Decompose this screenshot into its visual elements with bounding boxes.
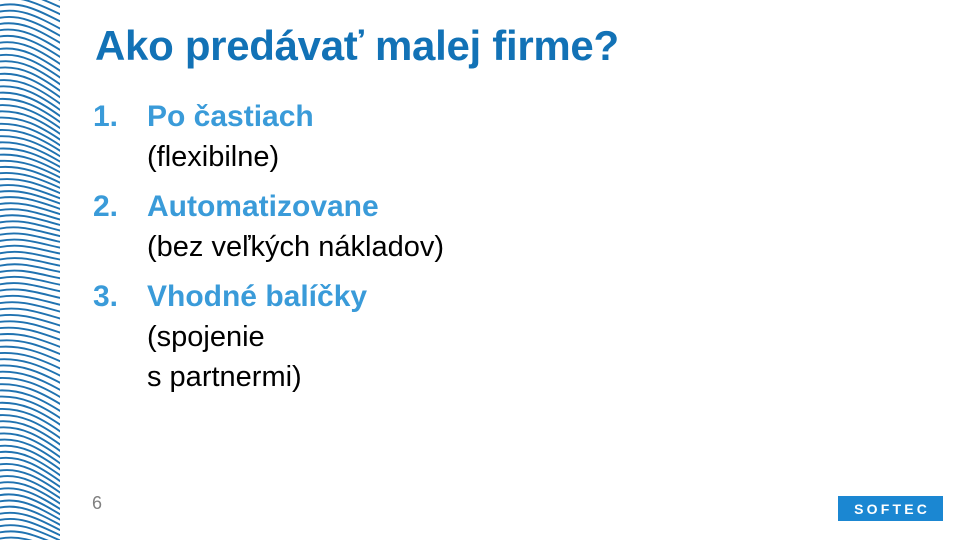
list-item-number: 2. — [93, 187, 147, 227]
list-item-heading: Automatizovane — [147, 187, 833, 227]
list-item-number: 1. — [93, 97, 147, 137]
page-number: 6 — [92, 491, 102, 515]
list-item-subtext: (flexibilne) — [147, 137, 833, 177]
list-item-subtext: (bez veľkých nákladov) — [147, 227, 833, 267]
list-item-number: 3. — [93, 277, 147, 317]
list-item: 1. Po častiach (flexibilne) — [93, 97, 833, 177]
wave-pattern-icon — [0, 0, 60, 540]
list-item-body: Po častiach (flexibilne) — [147, 97, 833, 177]
list-item-body: Automatizovane (bez veľkých nákladov) — [147, 187, 833, 267]
logo-text: SOFTEC — [851, 502, 930, 516]
list-item-heading: Vhodné balíčky — [147, 277, 833, 317]
list-item-subtext: s partnermi) — [147, 357, 833, 397]
list-item: 3. Vhodné balíčky (spojenie s partnermi) — [93, 277, 833, 397]
page-title: Ako predávať malej firme? — [95, 22, 925, 69]
slide: Ako predávať malej firme? 1. Po častiach… — [0, 0, 960, 540]
list-item-heading: Po častiach — [147, 97, 833, 137]
numbered-list: 1. Po častiach (flexibilne) 2. Automatiz… — [93, 97, 833, 407]
list-item-body: Vhodné balíčky (spojenie s partnermi) — [147, 277, 833, 397]
list-item: 2. Automatizovane (bez veľkých nákladov) — [93, 187, 833, 267]
softec-logo: SOFTEC — [838, 496, 943, 521]
list-item-subtext: (spojenie — [147, 317, 833, 357]
